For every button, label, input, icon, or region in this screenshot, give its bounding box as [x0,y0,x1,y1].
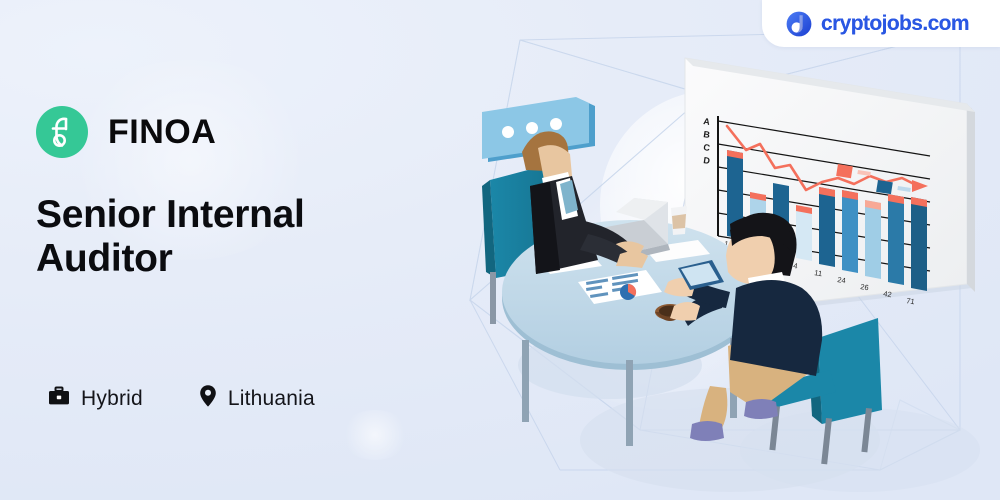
job-posting-banner: A B C D [0,0,1000,500]
svg-text:11: 11 [814,268,823,278]
map-pin-icon [199,384,217,413]
meta-label-location: Lithuania [228,387,315,411]
svg-text:26: 26 [860,282,870,292]
svg-text:71: 71 [906,296,916,306]
svg-text:24: 24 [837,275,847,285]
isometric-business-meeting-illustration: A B C D [430,20,1000,500]
finoa-logo-icon [36,106,88,158]
briefcase-icon [48,386,70,411]
meta-item-work-mode: Hybrid [48,386,143,411]
brand-wordmark: cryptojobs.com [821,13,969,34]
page-title: Senior Internal Auditor [36,193,396,282]
meta-item-location: Lithuania [199,384,315,413]
cryptojobs-droplet-icon [786,11,812,37]
coffee-glass [671,206,687,235]
brand-badge[interactable]: cryptojobs.com [762,0,1000,47]
company-row: FINOA [36,106,216,158]
svg-text:42: 42 [883,289,893,299]
company-name: FINOA [108,113,216,152]
job-info-column: FINOA Senior Internal Auditor Hybrid [36,0,466,500]
job-meta-row: Hybrid Lithuania [48,384,315,413]
meta-label-work-mode: Hybrid [81,387,143,411]
